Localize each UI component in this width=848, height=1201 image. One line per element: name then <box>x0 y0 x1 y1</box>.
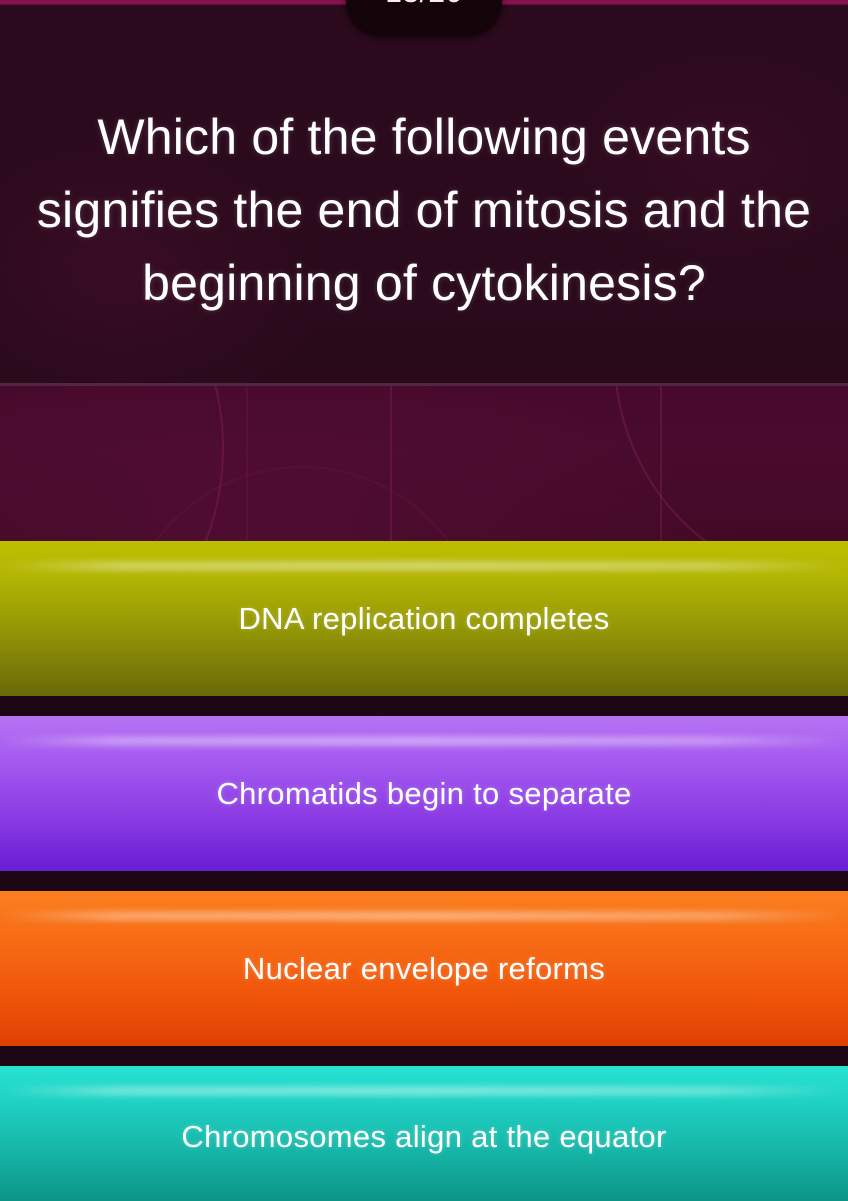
decorative-arc <box>614 386 848 541</box>
answer-option-b[interactable]: Chromatids begin to separate <box>0 716 848 871</box>
answer-option-a-label: DNA replication completes <box>214 601 633 637</box>
answer-options-list: DNA replication completes Chromatids beg… <box>0 541 848 1201</box>
answer-option-b-label: Chromatids begin to separate <box>192 776 655 812</box>
answer-option-d[interactable]: Chromosomes align at the equator <box>0 1066 848 1201</box>
decorative-arc <box>120 466 484 541</box>
decorative-line <box>246 386 248 541</box>
question-counter-label: 13/20 <box>385 0 463 8</box>
decorative-arc <box>0 386 224 541</box>
question-counter-badge: 13/20 <box>346 0 502 36</box>
question-text: Which of the following events signifies … <box>9 101 839 320</box>
option-sheen <box>0 1086 848 1096</box>
answer-option-d-label: Chromosomes align at the equator <box>157 1119 690 1155</box>
question-panel: 13/20 Which of the following events sign… <box>0 0 848 386</box>
decorative-line <box>390 386 392 541</box>
option-sheen <box>0 911 848 921</box>
answer-option-a[interactable]: DNA replication completes <box>0 541 848 696</box>
decorative-line <box>660 386 662 541</box>
option-sheen <box>0 736 848 746</box>
quiz-screen: 13/20 Which of the following events sign… <box>0 0 848 1201</box>
decorative-spacer-band <box>0 386 848 541</box>
answer-option-c[interactable]: Nuclear envelope reforms <box>0 891 848 1046</box>
option-sheen <box>0 561 848 571</box>
answer-option-c-label: Nuclear envelope reforms <box>219 951 629 987</box>
